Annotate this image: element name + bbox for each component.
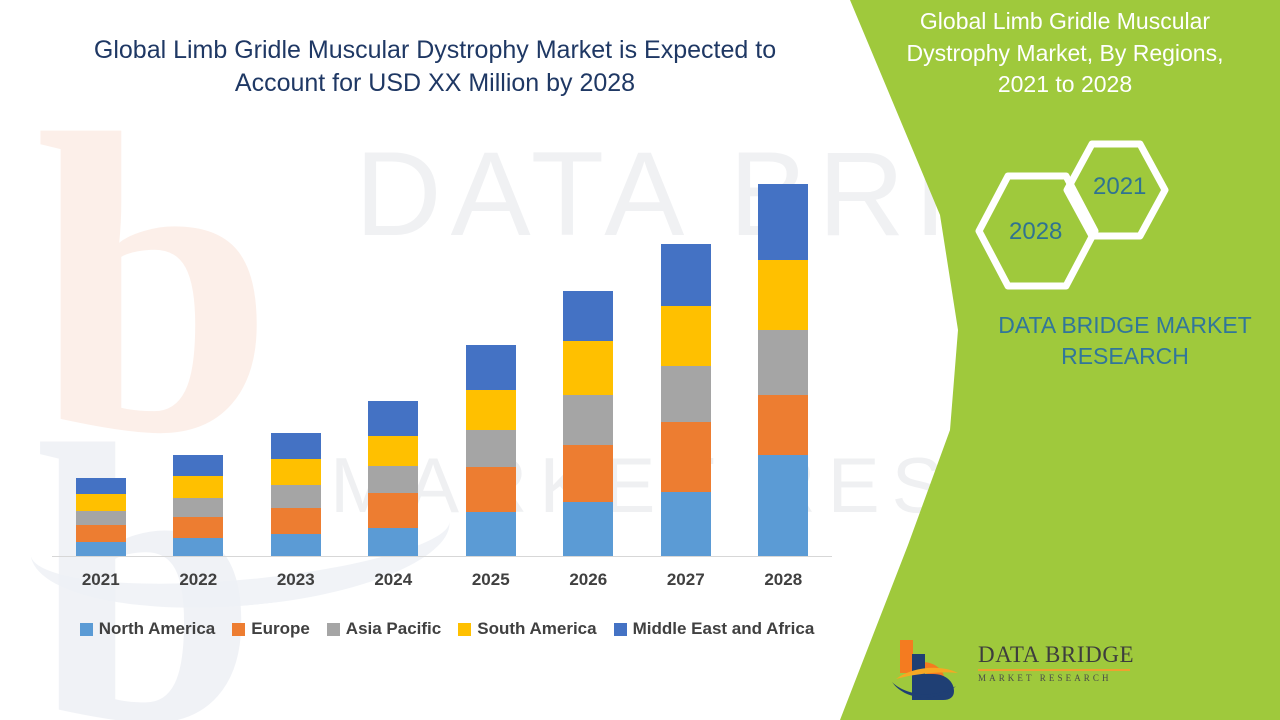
bar-segment[interactable]: [758, 260, 808, 330]
bar-2021[interactable]: [76, 478, 126, 556]
bar-segment[interactable]: [466, 430, 516, 467]
bar-segment[interactable]: [368, 436, 418, 466]
bar-segment[interactable]: [758, 455, 808, 556]
bar-segment[interactable]: [758, 184, 808, 260]
chart-panel: b b DATA BRIDGE MARKET RESEARCH Global L…: [0, 0, 870, 720]
dbmr-logo-subtitle: MARKET RESEARCH: [978, 673, 1138, 683]
bar-segment[interactable]: [563, 291, 613, 341]
hexagon-group: 2028 2021: [975, 140, 1205, 290]
legend-swatch-icon: [80, 623, 93, 636]
bar-segment[interactable]: [173, 476, 223, 498]
bar-segment[interactable]: [368, 493, 418, 528]
dbmr-logo-name: DATA BRIDGE: [978, 642, 1138, 668]
x-axis-labels: 20212022202320242025202620272028: [52, 570, 832, 600]
chart-legend: North AmericaEuropeAsia PacificSouth Ame…: [52, 616, 842, 642]
legend-label: Middle East and Africa: [633, 619, 815, 639]
x-axis-label-2023: 2023: [251, 570, 341, 590]
dbmr-logo-text: DATA BRIDGE MARKET RESEARCH: [978, 642, 1138, 683]
legend-item-north-america[interactable]: North America: [80, 619, 216, 639]
legend-swatch-icon: [232, 623, 245, 636]
dbmr-logo: DATA BRIDGE MARKET RESEARCH: [890, 638, 1120, 700]
bar-segment[interactable]: [368, 466, 418, 493]
chart-plot-area: [52, 140, 832, 556]
hexagon-2021-label: 2021: [1093, 173, 1146, 201]
bar-segment[interactable]: [271, 433, 321, 459]
x-axis-label-2022: 2022: [153, 570, 243, 590]
bar-segment[interactable]: [563, 395, 613, 445]
bar-2025[interactable]: [466, 345, 516, 556]
green-panel-title: Global Limb Gridle Muscular Dystrophy Ma…: [900, 6, 1230, 101]
bar-segment[interactable]: [173, 455, 223, 476]
bar-segment[interactable]: [466, 512, 516, 556]
legend-label: North America: [99, 619, 216, 639]
bar-segment[interactable]: [661, 366, 711, 422]
bar-segment[interactable]: [661, 492, 711, 556]
infographic-canvas: b b DATA BRIDGE MARKET RESEARCH Global L…: [0, 0, 1280, 720]
bar-2022[interactable]: [173, 455, 223, 556]
dbmr-logo-mark-icon: [890, 638, 976, 700]
bar-segment[interactable]: [368, 401, 418, 436]
bar-segment[interactable]: [661, 244, 711, 306]
bar-segment[interactable]: [271, 485, 321, 508]
legend-label: South America: [477, 619, 596, 639]
brand-name-text: DATA BRIDGE MARKET RESEARCH: [960, 310, 1280, 372]
legend-item-middle-east-and-africa[interactable]: Middle East and Africa: [614, 619, 815, 639]
bar-segment[interactable]: [466, 345, 516, 390]
bar-2028[interactable]: [758, 184, 808, 556]
legend-item-europe[interactable]: Europe: [232, 619, 310, 639]
x-axis-label-2026: 2026: [543, 570, 633, 590]
legend-item-south-america[interactable]: South America: [458, 619, 596, 639]
bar-segment[interactable]: [76, 542, 126, 556]
bar-segment[interactable]: [758, 330, 808, 395]
bar-segment[interactable]: [271, 534, 321, 556]
bar-2024[interactable]: [368, 401, 418, 556]
bar-segment[interactable]: [661, 422, 711, 492]
bar-segment[interactable]: [76, 494, 126, 511]
bar-segment[interactable]: [661, 306, 711, 366]
bar-segment[interactable]: [466, 467, 516, 512]
bar-segment[interactable]: [466, 390, 516, 430]
legend-item-asia-pacific[interactable]: Asia Pacific: [327, 619, 441, 639]
bar-segment[interactable]: [563, 445, 613, 502]
bar-segment[interactable]: [173, 517, 223, 538]
legend-swatch-icon: [614, 623, 627, 636]
bar-segment[interactable]: [76, 478, 126, 494]
x-axis-label-2024: 2024: [348, 570, 438, 590]
legend-swatch-icon: [327, 623, 340, 636]
bar-segment[interactable]: [271, 459, 321, 485]
chart-title: Global Limb Gridle Muscular Dystrophy Ma…: [55, 34, 815, 100]
bar-segment[interactable]: [76, 525, 126, 542]
bar-segment[interactable]: [173, 538, 223, 556]
bar-2027[interactable]: [661, 244, 711, 556]
dbmr-logo-divider: [978, 669, 1130, 671]
bar-segment[interactable]: [758, 395, 808, 455]
hexagon-2028-label: 2028: [1009, 218, 1062, 246]
x-axis-label-2027: 2027: [641, 570, 731, 590]
bar-segment[interactable]: [76, 511, 126, 525]
bar-segment[interactable]: [173, 498, 223, 517]
legend-label: Asia Pacific: [346, 619, 441, 639]
bar-segment[interactable]: [368, 528, 418, 556]
legend-swatch-icon: [458, 623, 471, 636]
x-axis-label-2021: 2021: [56, 570, 146, 590]
x-axis-label-2028: 2028: [738, 570, 828, 590]
bar-2023[interactable]: [271, 433, 321, 556]
bar-segment[interactable]: [563, 502, 613, 556]
x-axis-label-2025: 2025: [446, 570, 536, 590]
legend-label: Europe: [251, 619, 310, 639]
bar-segment[interactable]: [271, 508, 321, 534]
bar-segment[interactable]: [563, 341, 613, 395]
x-axis-line: [52, 556, 832, 557]
bar-2026[interactable]: [563, 291, 613, 556]
